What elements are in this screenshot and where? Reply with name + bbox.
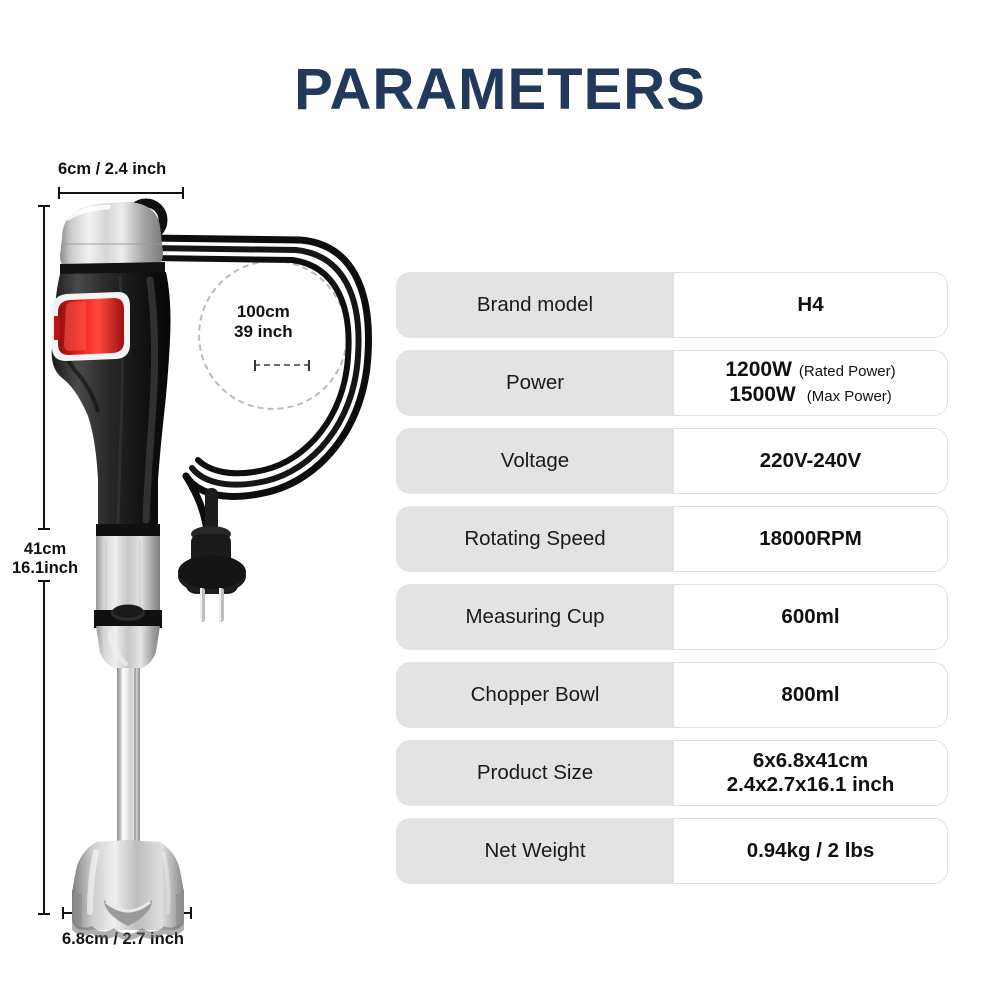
power-max-note: (Max Power) xyxy=(807,388,892,406)
product-illustration-panel: 6cm / 2.4 inch 41cm 16.1inch 6.8cm / 2.7… xyxy=(0,140,400,970)
spec-key-brand-model: Brand model xyxy=(396,272,674,338)
spec-value-net-weight: 0.94kg / 2 lbs xyxy=(674,818,948,884)
table-row: Chopper Bowl 800ml xyxy=(396,662,948,728)
handle-lower-band xyxy=(96,524,160,538)
product-size-cm: 6x6.8x41cm xyxy=(753,749,868,773)
power-plug xyxy=(178,488,246,622)
spec-value-chopper-bowl: 800ml xyxy=(674,662,948,728)
spec-key-power: Power xyxy=(396,350,674,416)
spec-value-measuring-cup: 600ml xyxy=(674,584,948,650)
table-row: Rotating Speed 18000RPM xyxy=(396,506,948,572)
table-row: Net Weight 0.94kg / 2 lbs xyxy=(396,818,948,884)
power-rated-watts: 1200W xyxy=(725,358,792,383)
hand-blender-image xyxy=(0,140,400,970)
spec-key-measuring-cup: Measuring Cup xyxy=(396,584,674,650)
power-max-line: 1500W (Max Power) xyxy=(729,383,892,408)
motor-top-cap xyxy=(60,202,163,268)
power-cord xyxy=(148,238,368,570)
spec-key-net-weight: Net Weight xyxy=(396,818,674,884)
spec-value-power: 1200W (Rated Power) 1500W (Max Power) xyxy=(674,350,948,416)
page-title: PARAMETERS xyxy=(0,56,1000,123)
blending-shaft xyxy=(117,668,140,850)
power-rated-note: (Rated Power) xyxy=(799,363,896,381)
table-row: Product Size 6x6.8x41cm 2.4x2.7x16.1 inc… xyxy=(396,740,948,806)
spec-value-rotating-speed: 18000RPM xyxy=(674,506,948,572)
speed-control-button xyxy=(52,292,130,361)
power-rated-line: 1200W (Rated Power) xyxy=(725,358,895,383)
spec-key-voltage: Voltage xyxy=(396,428,674,494)
table-row: Power 1200W (Rated Power) 1500W (Max Pow… xyxy=(396,350,948,416)
table-row: Voltage 220V-240V xyxy=(396,428,948,494)
product-size-inch: 2.4x2.7x16.1 inch xyxy=(727,773,895,797)
spec-value-brand-model: H4 xyxy=(674,272,948,338)
specifications-table: Brand model H4 Power 1200W (Rated Power)… xyxy=(396,272,948,884)
spec-value-voltage: 220V-240V xyxy=(674,428,948,494)
spec-value-product-size: 6x6.8x41cm 2.4x2.7x16.1 inch xyxy=(674,740,948,806)
spec-key-rotating-speed: Rotating Speed xyxy=(396,506,674,572)
spec-key-chopper-bowl: Chopper Bowl xyxy=(396,662,674,728)
table-row: Measuring Cup 600ml xyxy=(396,584,948,650)
table-row: Brand model H4 xyxy=(396,272,948,338)
power-max-watts: 1500W xyxy=(729,383,796,408)
blade-guard xyxy=(72,840,184,940)
stainless-midsection xyxy=(94,536,162,671)
spec-key-product-size: Product Size xyxy=(396,740,674,806)
